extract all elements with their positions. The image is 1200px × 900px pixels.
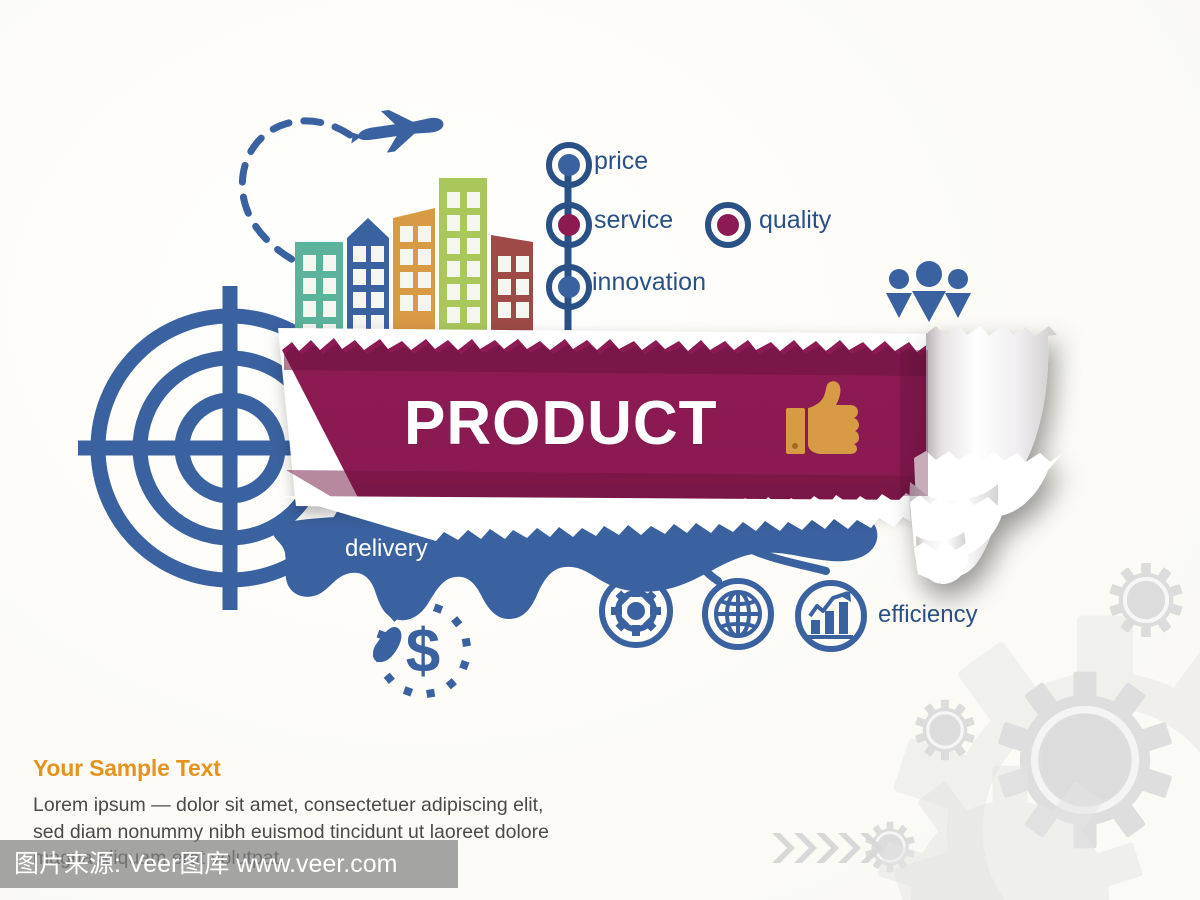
city-skyline (290, 170, 540, 345)
curled-paper-roll (910, 325, 1062, 584)
bullet-price-marker[interactable] (545, 141, 593, 189)
banner-word: PRODUCT (404, 388, 718, 459)
icon-row-label-efficiency: efficiency (878, 601, 978, 629)
bullet-innovation-marker[interactable] (545, 263, 593, 311)
people-group-icon (884, 266, 974, 324)
footer-heading: Your Sample Text (33, 755, 221, 782)
bullet-label-quality: quality (759, 206, 831, 235)
timeline-label-price: price (594, 147, 648, 176)
bullet-quality-marker[interactable] (704, 201, 752, 249)
bullet-service-marker[interactable] (545, 201, 593, 249)
thumbs-up-icon (782, 378, 862, 458)
dollar-coin-icon: $ (368, 600, 478, 700)
infographic-canvas: price service innovation quality deliver… (0, 0, 1200, 900)
svg-text:$: $ (406, 617, 440, 686)
timeline-label-service: service (594, 206, 673, 235)
timeline-label-innovation: innovation (592, 268, 706, 297)
watermark-text: 图片来源: Veer图库 www.veer.com (14, 840, 464, 888)
